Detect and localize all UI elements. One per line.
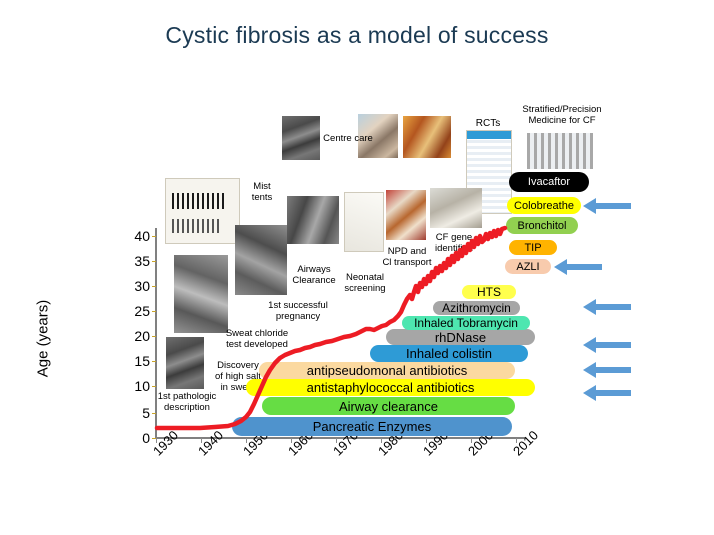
annotation-sweat-chloride: Sweat chloride test developed xyxy=(224,328,290,350)
y-tick-0: 0 xyxy=(124,430,150,446)
y-tick-35: 35 xyxy=(124,253,150,269)
arrow-to-antipseudomonal-antibiotics xyxy=(583,360,631,380)
therapy-pill-antistaphylococcal-antibiotics[interactable]: antistaphylococcal antibiotics xyxy=(246,379,535,396)
therapy-pill-bronchitol[interactable]: Bronchitol xyxy=(506,217,578,234)
therapy-label: Airway clearance xyxy=(339,399,438,414)
therapy-label: Inhaled Tobramycin xyxy=(414,316,518,330)
y-tickmark-25 xyxy=(152,311,156,312)
y-tick-5: 5 xyxy=(124,405,150,421)
therapy-label: Colobreathe xyxy=(514,200,574,212)
y-tickmark-40 xyxy=(152,236,156,237)
x-tick-2010: 2010 xyxy=(510,428,541,459)
annotation-rcts: RCTs xyxy=(463,118,513,129)
y-tickmark-35 xyxy=(152,261,156,262)
therapy-label: antistaphylococcal antibiotics xyxy=(307,380,475,395)
x-tick-1940: 1940 xyxy=(195,428,226,459)
therapy-label: TIP xyxy=(524,242,541,254)
survival-curve xyxy=(0,0,714,535)
page-title: Cystic fibrosis as a model of success xyxy=(0,22,714,49)
y-tick-15: 15 xyxy=(124,353,150,369)
arrow-to-azli xyxy=(554,257,602,277)
original-paper-scan xyxy=(165,178,240,244)
therapy-label: Inhaled colistin xyxy=(406,346,492,361)
y-tickmark-30 xyxy=(152,286,156,287)
clinic-photo xyxy=(174,255,228,333)
pathologist-portrait xyxy=(166,337,204,389)
y-tickmark-5 xyxy=(152,413,156,414)
npd-portrait xyxy=(386,190,426,240)
y-tickmark-15 xyxy=(152,361,156,362)
y-tickmark-10 xyxy=(152,386,156,387)
y-tick-30: 30 xyxy=(124,278,150,294)
annotation-first-pathologic: 1st pathologic description xyxy=(156,391,218,413)
annotation-neonatal-screening: Neonatal screening xyxy=(337,272,393,294)
y-tick-40: 40 xyxy=(124,228,150,244)
arrow-to-inhaled-colistin xyxy=(583,335,631,355)
cf-gene-team-photo xyxy=(430,188,482,228)
therapy-label: rhDNase xyxy=(435,330,486,345)
physiotherapy-photo xyxy=(287,196,339,244)
therapy-pill-inhaled-colistin[interactable]: Inhaled colistin xyxy=(370,345,528,362)
therapy-pill-rhdnase[interactable]: rhDNase xyxy=(386,329,535,345)
therapy-label: Azithromycin xyxy=(442,301,511,315)
therapy-pill-airway-clearance[interactable]: Airway clearance xyxy=(262,397,515,415)
therapy-label: Ivacaftor xyxy=(528,176,570,188)
annotation-cf-gene-identified: CF gene identified xyxy=(428,232,480,254)
therapy-pill-tip[interactable]: TIP xyxy=(509,240,557,255)
arrow-to-azithromycin xyxy=(583,297,631,317)
slide-canvas: Cystic fibrosis as a model of success Ag… xyxy=(0,0,714,535)
therapy-pill-pancreatic-enzymes[interactable]: Pancreatic Enzymes xyxy=(232,417,512,436)
centre-care-photo-2 xyxy=(403,116,451,158)
annotation-centre-care: Centre care xyxy=(318,133,378,144)
therapy-label: HTS xyxy=(477,285,501,299)
annotation-npd-cl-transport: NPD and Cl transport xyxy=(381,246,433,268)
therapy-label: Pancreatic Enzymes xyxy=(313,419,432,434)
y-axis-title: Age (years) xyxy=(35,274,52,404)
therapy-pill-antipseudomonal-antibiotics[interactable]: antipseudomonal antibiotics xyxy=(259,362,515,379)
y-tick-25: 25 xyxy=(124,303,150,319)
arrow-to-antistaphylococcal-antibiotics xyxy=(583,383,631,403)
y-tickmark-20 xyxy=(152,336,156,337)
y-tick-10: 10 xyxy=(124,378,150,394)
therapy-pill-ivacaftor[interactable]: Ivacaftor xyxy=(509,172,589,192)
therapy-label: Bronchitol xyxy=(518,220,567,232)
stratified-medicine-figure xyxy=(527,133,593,169)
annotation-mist-tents: Mist tents xyxy=(240,181,284,203)
annotation-first-pregnancy: 1st successful pregnancy xyxy=(263,300,333,322)
y-tick-20: 20 xyxy=(124,328,150,344)
therapy-pill-hts[interactable]: HTS xyxy=(462,285,516,299)
therapy-label: antipseudomonal antibiotics xyxy=(307,363,467,378)
therapy-pill-azithromycin[interactable]: Azithromycin xyxy=(433,301,520,315)
therapy-pill-azli[interactable]: AZLI xyxy=(505,259,551,274)
annotation-airways-clearance: Airways Clearance xyxy=(288,264,340,286)
annotation-stratified-medicine: Stratified/Precision Medicine for CF xyxy=(516,104,608,126)
therapy-label: AZLI xyxy=(516,261,539,273)
therapy-pill-inhaled-tobramycin[interactable]: Inhaled Tobramycin xyxy=(402,316,530,330)
portrait-andersen xyxy=(282,116,320,160)
arrow-to-colobreathe xyxy=(583,196,631,216)
screening-chart-scan xyxy=(344,192,384,252)
mist-tent-photo xyxy=(235,225,287,295)
therapy-pill-colobreathe[interactable]: Colobreathe xyxy=(507,197,581,214)
